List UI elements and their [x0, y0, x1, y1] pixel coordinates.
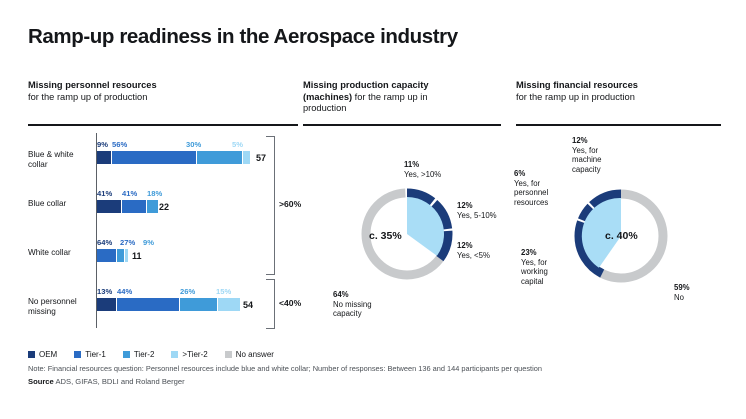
bar-segment-pct: 64%: [97, 238, 112, 247]
donut-label-yes-personnel-resources: 6% Yes, for personnel resources: [514, 169, 548, 207]
bar-segment-pct: 56%: [112, 140, 127, 149]
donut-label-value: 11%: [404, 160, 419, 169]
bar-segment-pct: 30%: [186, 140, 201, 149]
panel-personnel-header: Missing personnel resources for the ramp…: [28, 80, 298, 103]
legend: OEM Tier-1 Tier-2 >Tier-2 No answer: [28, 350, 291, 359]
divider-financial: [516, 124, 721, 126]
bar-segment-tier2: [196, 151, 242, 164]
infographic-page: Ramp-up readiness in the Aerospace indus…: [0, 0, 746, 419]
bar-total-value: 22: [159, 202, 169, 212]
bar-segment-oem: [97, 298, 116, 311]
bar-total-value: 54: [243, 300, 253, 310]
panel-financial-header: Missing financial resources for the ramp…: [516, 80, 721, 103]
bar-segment-pct: 5%: [232, 140, 243, 149]
legend-item-no-answer: No answer: [225, 350, 274, 359]
bar-category-label: White collar: [28, 248, 92, 258]
legend-item-tier-2: Tier-2: [123, 350, 155, 359]
bar-total-value: 11: [132, 251, 142, 261]
donut-label-value: 12%: [572, 136, 588, 145]
bar-category-label: Blue & white collar: [28, 150, 92, 170]
donut-label-value: 6%: [514, 169, 525, 178]
panel-capacity-title-rest: for the ramp up in: [352, 92, 427, 102]
bar-segment-pct: 41%: [122, 189, 137, 198]
panel-capacity-title-bold: Missing production capacity: [303, 80, 429, 90]
donut-label-text: Yes, 5-10%: [457, 211, 497, 220]
legend-swatch-icon: [123, 351, 130, 358]
donut-label-text2: capacity: [333, 309, 362, 318]
bar-segment-pct: 9%: [143, 238, 154, 247]
donut-label-yes-5-10: 12% Yes, 5-10%: [457, 201, 497, 220]
legend-item-tier-2-plus: >Tier-2: [171, 350, 207, 359]
donut-label-text2: personnel: [514, 188, 548, 197]
donut-label-value: 59%: [674, 283, 690, 292]
bar-category-line1: Blue collar: [28, 199, 66, 208]
bar-category-label: No personnel missing: [28, 297, 92, 317]
bar-segment-tier2plus: [242, 151, 251, 164]
bar-category-line1: No personnel: [28, 297, 77, 306]
donut-label-text2: working: [521, 267, 548, 276]
legend-swatch-icon: [28, 351, 35, 358]
panel-capacity-title-rest2: production: [303, 103, 346, 113]
donut-label-value: 12%: [457, 241, 473, 250]
bar-total-value: 57: [256, 153, 266, 163]
bar-category-line1: Blue & white: [28, 150, 74, 159]
donut-label-yes-working-capital: 23% Yes, for working capital: [521, 248, 548, 286]
legend-label: Tier-2: [134, 350, 155, 359]
donut-label-no-missing-capacity: 64% No missing capacity: [333, 290, 372, 319]
bar-segment-pct: 18%: [147, 189, 162, 198]
donut-chart-capacity: c. 35%: [357, 184, 457, 284]
divider-personnel: [28, 124, 298, 126]
bracket-under-40: [266, 279, 275, 329]
bracket-label-over-60: >60%: [279, 199, 301, 209]
donut-label-text: Yes, for: [572, 146, 598, 155]
donut-label-text: Yes, for: [521, 258, 547, 267]
donut-financial-center-label: c. 40%: [605, 230, 638, 242]
bar-segment-tier2: [146, 200, 158, 213]
legend-label: Tier-1: [85, 350, 106, 359]
legend-label: No answer: [236, 350, 274, 359]
donut-label-text: Yes, <5%: [457, 251, 490, 260]
donut-label-text2: machine: [572, 155, 601, 164]
donut-label-value: 64%: [333, 290, 349, 299]
bar-segment-pct: 41%: [97, 189, 112, 198]
donut-label-no: 59% No: [674, 283, 690, 302]
legend-label: >Tier-2: [182, 350, 207, 359]
bracket-label-under-40: <40%: [279, 298, 301, 308]
divider-capacity: [303, 124, 501, 126]
donut-label-text: No: [674, 293, 684, 302]
donut-label-text: No missing: [333, 300, 372, 309]
bar-segment-tier2plus: [217, 298, 240, 311]
donut-chart-financial: c. 40%: [569, 184, 673, 288]
panel-personnel-title-bold: Missing personnel resources: [28, 80, 157, 90]
bar-segment-oem: [97, 249, 116, 262]
donut-label-text3: capital: [521, 277, 544, 286]
bar-category-line1: White collar: [28, 248, 71, 257]
legend-label: OEM: [39, 350, 57, 359]
source-line: Source ADS, GIFAS, BDLI and Roland Berge…: [28, 377, 185, 386]
panel-financial-title-rest: for the ramp up in production: [516, 92, 635, 102]
bar-category-label: Blue collar: [28, 199, 92, 209]
legend-swatch-icon: [225, 351, 232, 358]
donut-label-yes-under-5: 12% Yes, <5%: [457, 241, 490, 260]
bar-segment-tier1: [121, 200, 146, 213]
legend-swatch-icon: [74, 351, 81, 358]
bar-chart-personnel: Blue & white collar 9% 56% 30% 5% 57 Blu…: [28, 133, 293, 328]
donut-label-yes-over-10: 11% Yes, >10%: [404, 160, 441, 179]
legend-item-tier-1: Tier-1: [74, 350, 106, 359]
panel-personnel-title-rest: for the ramp up of production: [28, 92, 147, 102]
bracket-over-60: [266, 136, 275, 275]
bar-segment-tier2: [124, 249, 128, 262]
bar-category-line2: missing: [28, 307, 56, 316]
legend-swatch-icon: [171, 351, 178, 358]
panel-financial-title-bold: Missing financial resources: [516, 80, 638, 90]
bar-segment-tier1: [116, 249, 125, 262]
bar-segment-tier1: [116, 298, 180, 311]
legend-item-oem: OEM: [28, 350, 57, 359]
donut-label-value: 12%: [457, 201, 473, 210]
panel-capacity-title-bold2: (machines): [303, 92, 352, 102]
donut-label-value: 23%: [521, 248, 537, 257]
bar-segment-oem: [97, 151, 111, 164]
page-title: Ramp-up readiness in the Aerospace indus…: [28, 25, 458, 49]
donut-capacity-center-label: c. 35%: [369, 230, 402, 242]
donut-label-text: Yes, >10%: [404, 170, 441, 179]
bar-segment-tier2: [179, 298, 217, 311]
bar-segment-pct: 9%: [97, 140, 108, 149]
note-text: Note: Financial resources question: Pers…: [28, 364, 542, 373]
panel-capacity-header: Missing production capacity (machines) f…: [303, 80, 501, 115]
bar-segment-pct: 27%: [120, 238, 135, 247]
bar-segment-oem: [97, 200, 121, 213]
bar-segment-pct: 44%: [117, 287, 132, 296]
source-text: ADS, GIFAS, BDLI and Roland Berger: [55, 377, 184, 386]
bar-segment-tier1: [111, 151, 196, 164]
bar-segment-pct: 26%: [180, 287, 195, 296]
donut-label-yes-machine-capacity: 12% Yes, for machine capacity: [572, 136, 601, 174]
bar-segment-pct: 15%: [216, 287, 231, 296]
donut-label-text3: capacity: [572, 165, 601, 174]
bar-category-line2: collar: [28, 160, 48, 169]
donut-label-text: Yes, for: [514, 179, 540, 188]
source-label: Source: [28, 377, 54, 386]
donut-label-text3: resources: [514, 198, 548, 207]
bar-segment-pct: 13%: [97, 287, 112, 296]
